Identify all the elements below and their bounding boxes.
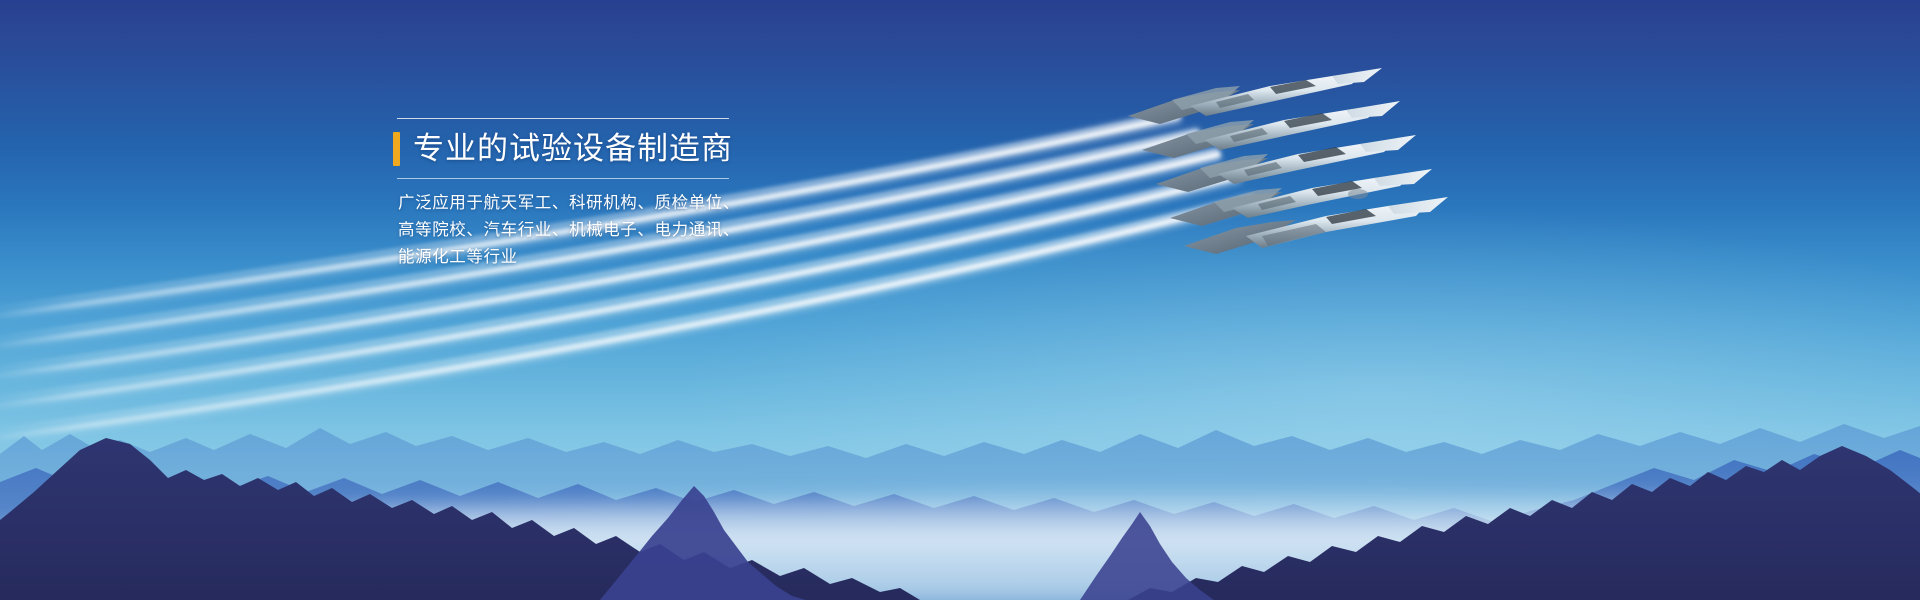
subtitle-line-3: 能源化工等行业	[398, 244, 743, 271]
hero-banner: 专业的试验设备制造商 广泛应用于航天军工、科研机构、质检单位、 高等院校、汽车行…	[0, 0, 1920, 600]
headline-rule-top	[397, 118, 729, 119]
banner-subtitle: 广泛应用于航天军工、科研机构、质检单位、 高等院校、汽车行业、机械电子、电力通讯…	[398, 190, 743, 271]
headline-row: 专业的试验设备制造商	[393, 124, 743, 174]
accent-bar-icon	[393, 132, 400, 166]
subtitle-line-2: 高等院校、汽车行业、机械电子、电力通讯、	[398, 217, 743, 244]
page-title: 专业的试验设备制造商	[413, 132, 733, 166]
subtitle-line-1: 广泛应用于航天军工、科研机构、质检单位、	[398, 190, 743, 217]
sky-background	[0, 0, 1920, 600]
banner-copy: 专业的试验设备制造商 广泛应用于航天军工、科研机构、质检单位、 高等院校、汽车行…	[393, 118, 743, 271]
headline-rule-bottom	[397, 178, 729, 179]
